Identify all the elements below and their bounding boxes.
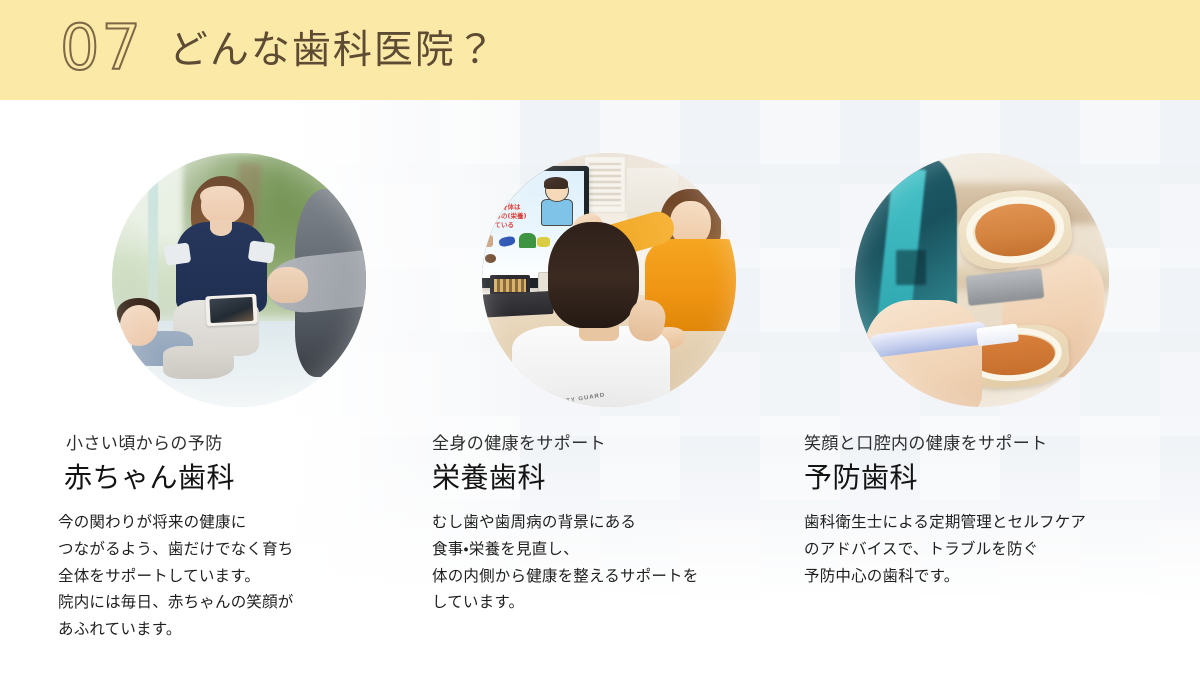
service-heading: 栄養歯科 — [432, 462, 782, 494]
text-block-baby-dentistry: 小さい頃からの予防 赤ちゃん歯科 今の関わりが将来の健康に つながるよう、歯だけ… — [58, 434, 388, 643]
column-baby-dentistry: 小さい頃からの予防 赤ちゃん歯科 今の関わりが将来の健康に つながるよう、歯だけ… — [45, 100, 425, 675]
section-number: 07 — [60, 17, 143, 79]
service-description: 今の関わりが将来の健康に つながるよう、歯だけでなく育ち 全体をサポートしていま… — [58, 509, 388, 644]
column-preventive-dentistry: 笑顔と口腔内の健康をサポート 予防歯科 歯科衛生士による定期管理とセルフケア の… — [795, 100, 1175, 675]
page-title: どんな歯科医院？ — [169, 31, 497, 70]
monitor-caption-text: 私たちの身体は 食べたもの(栄養) でできている — [482, 203, 526, 231]
kicker-label: 笑顔と口腔内の健康をサポート — [804, 434, 1176, 454]
column-nutrition-dentistry: 私たちの身体は 食べたもの(栄養) でできている SECURITY GUARD — [420, 100, 800, 675]
content-columns: 小さい頃からの予防 赤ちゃん歯科 今の関わりが将来の健康に つながるよう、歯だけ… — [0, 100, 1200, 675]
photo-baby-dentistry — [112, 153, 366, 407]
service-heading: 予防歯科 — [804, 462, 1176, 494]
kicker-label: 全身の健康をサポート — [432, 434, 782, 454]
slide: 07 どんな歯科医院？ — [0, 0, 1200, 675]
header-band: 07 どんな歯科医院？ — [0, 0, 1200, 100]
text-block-nutrition-dentistry: 全身の健康をサポート 栄養歯科 むし歯や歯周病の背景にある 食事・栄養を見直し、… — [432, 434, 782, 616]
shirt-print-text: SECURITY GUARD — [537, 391, 613, 407]
kicker-label: 小さい頃からの予防 — [58, 434, 388, 454]
service-description: 歯科衛生士による定期管理とセルフケア のアドバイスで、トラブルを防ぐ 予防中心の… — [804, 509, 1176, 590]
photo-nutrition-counselling: 私たちの身体は 食べたもの(栄養) でできている SECURITY GUARD — [482, 153, 736, 407]
service-heading: 赤ちゃん歯科 — [58, 462, 388, 494]
photo-preventive-care — [855, 153, 1109, 407]
text-block-preventive-dentistry: 笑顔と口腔内の健康をサポート 予防歯科 歯科衛生士による定期管理とセルフケア の… — [804, 434, 1176, 589]
service-description: むし歯や歯周病の背景にある 食事・栄養を見直し、 体の内側から健康を整えるサポー… — [432, 509, 782, 617]
